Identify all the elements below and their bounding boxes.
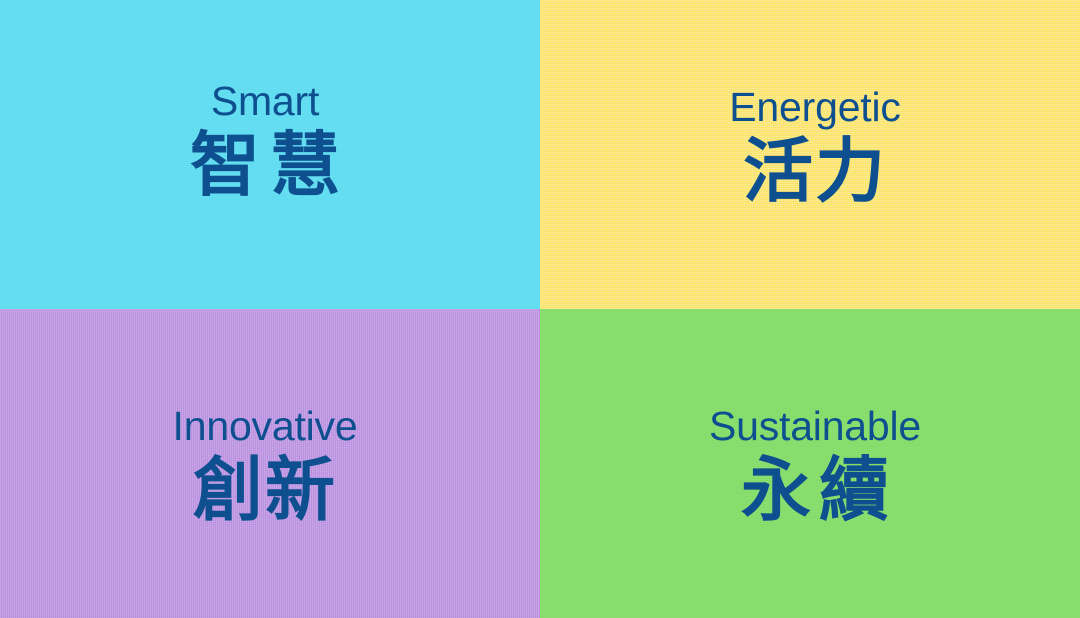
label-block-sustainable: Sustainable 永續 xyxy=(709,406,921,525)
value-label-zh-sustainable: 永續 xyxy=(733,455,897,525)
value-label-zh-innovative: 創新 xyxy=(193,455,337,525)
value-label-en-sustainable: Sustainable xyxy=(709,406,921,447)
quadrant-smart[interactable]: Smart 智慧 xyxy=(0,0,540,309)
label-block-smart: Smart 智慧 xyxy=(180,81,350,200)
label-block-energetic: Energetic 活力 xyxy=(729,87,900,206)
value-label-zh-smart: 智慧 xyxy=(180,130,350,200)
quadrant-innovative[interactable]: Innovative 創新 xyxy=(0,309,540,618)
value-label-en-innovative: Innovative xyxy=(173,406,358,447)
quadrant-sustainable[interactable]: Sustainable 永續 xyxy=(540,309,1080,618)
value-label-en-smart: Smart xyxy=(211,81,319,122)
value-label-zh-energetic: 活力 xyxy=(743,136,887,206)
label-block-innovative: Innovative 創新 xyxy=(173,406,358,525)
quadrant-energetic[interactable]: Energetic 活力 xyxy=(540,0,1080,309)
value-label-en-energetic: Energetic xyxy=(729,87,900,128)
brand-values-grid: Smart 智慧 Energetic 活力 Innovative 創新 Sust… xyxy=(0,0,1080,618)
